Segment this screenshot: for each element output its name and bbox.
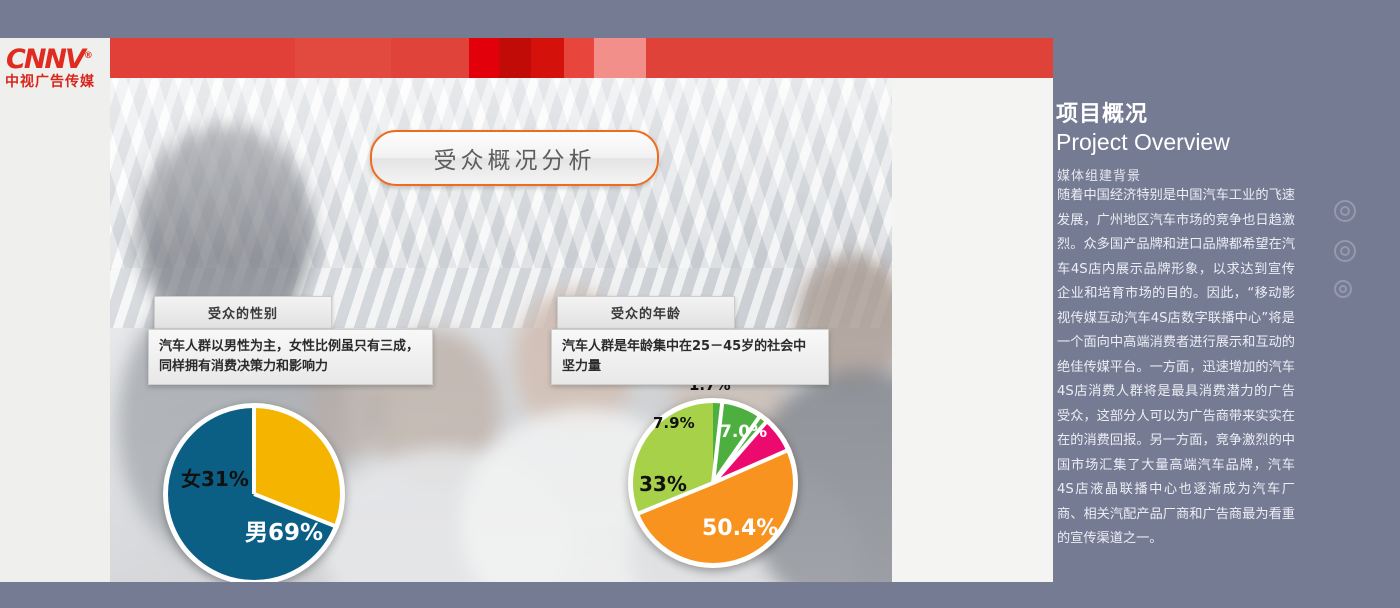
pie-slice-label: 7.9%	[653, 414, 695, 432]
logo: CNNV® 中视广告传媒	[0, 38, 110, 96]
pie-slice-divider	[712, 447, 791, 485]
pie-slice-divider	[252, 403, 256, 494]
panel-subtitle: Project Overview	[1056, 129, 1356, 156]
header-bar-segment	[531, 38, 564, 78]
header-color-bar	[110, 38, 1053, 78]
target-ring-icon	[1334, 240, 1356, 262]
target-ring-icon	[1334, 200, 1356, 222]
target-ring-icon	[1334, 280, 1352, 298]
callout-gender-body: 汽车人群以男性为主，女性比例虽只有三成，同样拥有消费决策力和影响力	[148, 329, 433, 385]
decoration-dots	[1334, 200, 1374, 316]
header-bar-segment	[110, 38, 295, 78]
header-bar-segment	[594, 38, 646, 78]
logo-mark: CNNV®	[6, 41, 108, 71]
callout-age-head: 受众的年龄	[557, 296, 735, 329]
panel-title: 项目概况	[1056, 96, 1356, 128]
logo-chinese-name: 中视广告传媒	[5, 71, 109, 91]
header-bar-segment	[646, 38, 1053, 78]
page-title: 受众概况分析	[434, 141, 596, 175]
pie-slice-label: 女31%	[181, 463, 249, 492]
registered-mark-icon: ®	[84, 51, 93, 61]
callout-age-body: 汽车人群是年龄集中在25－45岁的社会中坚力量	[551, 329, 829, 385]
pie-slice-label: 50.4%	[702, 516, 778, 541]
panel-kicker: 媒体组建背景	[1057, 165, 1357, 184]
age-pie-chart: 1.7%7.0%50.4%33%7.9%	[628, 398, 798, 568]
slide-stage: CNNV® 中视广告传媒 受众概况分析 受众的性别 汽车人群以男性为主，女性比例…	[0, 0, 1400, 608]
pie-slice-label: 33%	[639, 472, 687, 496]
header-bar-segment	[564, 38, 594, 78]
callout-age: 受众的年龄 汽车人群是年龄集中在25－45岁的社会中坚力量	[551, 296, 829, 385]
pie-slice-label: 男69%	[245, 513, 323, 547]
callout-gender-head: 受众的性别	[154, 296, 332, 329]
photo-right-margin	[892, 78, 1053, 582]
header-bar-segment	[499, 38, 531, 78]
header-bar-segment	[391, 38, 469, 78]
callout-gender: 受众的性别 汽车人群以男性为主，女性比例虽只有三成，同样拥有消费决策力和影响力	[148, 296, 433, 385]
gender-pie-disc	[163, 403, 345, 582]
header-bar-segment	[295, 38, 391, 78]
panel-body-text: 随着中国经济特别是中国汽车工业的飞速发展，广州地区汽车市场的竞争也日趋激烈。众多…	[1057, 184, 1295, 552]
pie-slice-label: 7.0%	[720, 422, 767, 442]
header-bar-segment	[469, 38, 499, 78]
gender-pie-chart: 女31%男69%	[163, 403, 345, 582]
slide-title-pill: 受众概况分析	[370, 130, 659, 186]
presentation-slide: CNNV® 中视广告传媒 受众概况分析 受众的性别 汽车人群以男性为主，女性比例…	[0, 38, 1053, 582]
